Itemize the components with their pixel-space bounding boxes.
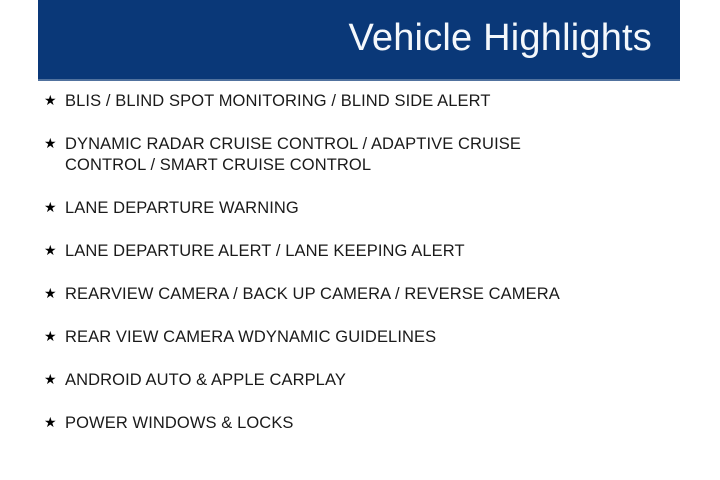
page-title: Vehicle Highlights — [348, 19, 680, 61]
highlight-label: REARVIEW CAMERA / BACK UP CAMERA / REVER… — [65, 284, 610, 305]
list-item: ★ REARVIEW CAMERA / BACK UP CAMERA / REV… — [44, 284, 684, 305]
star-icon: ★ — [44, 413, 65, 434]
star-icon: ★ — [44, 327, 65, 348]
header-underline-divider — [38, 79, 680, 81]
star-icon: ★ — [44, 198, 65, 219]
highlight-label: BLIS / BLIND SPOT MONITORING / BLIND SID… — [65, 91, 610, 112]
vehicle-highlights-slide: Vehicle Highlights ★ BLIS / BLIND SPOT M… — [0, 0, 720, 480]
vehicle-highlights-list: ★ BLIS / BLIND SPOT MONITORING / BLIND S… — [44, 91, 684, 434]
list-item: ★ BLIS / BLIND SPOT MONITORING / BLIND S… — [44, 91, 684, 112]
star-icon: ★ — [44, 134, 65, 155]
list-item: ★ DYNAMIC RADAR CRUISE CONTROL / ADAPTIV… — [44, 134, 684, 176]
highlight-label: DYNAMIC RADAR CRUISE CONTROL / ADAPTIVE … — [65, 134, 610, 176]
highlight-label: LANE DEPARTURE ALERT / LANE KEEPING ALER… — [65, 241, 610, 262]
star-icon: ★ — [44, 284, 65, 305]
star-icon: ★ — [44, 91, 65, 112]
highlight-label: POWER WINDOWS & LOCKS — [65, 413, 610, 434]
list-item: ★ ANDROID AUTO & APPLE CARPLAY — [44, 370, 684, 391]
header-banner: Vehicle Highlights — [38, 0, 680, 79]
list-item: ★ REAR VIEW CAMERA WDYNAMIC GUIDELINES — [44, 327, 684, 348]
highlight-label: REAR VIEW CAMERA WDYNAMIC GUIDELINES — [65, 327, 610, 348]
list-item: ★ LANE DEPARTURE WARNING — [44, 198, 684, 219]
list-item: ★ LANE DEPARTURE ALERT / LANE KEEPING AL… — [44, 241, 684, 262]
star-icon: ★ — [44, 370, 65, 391]
star-icon: ★ — [44, 241, 65, 262]
highlight-label: ANDROID AUTO & APPLE CARPLAY — [65, 370, 610, 391]
list-item: ★ POWER WINDOWS & LOCKS — [44, 413, 684, 434]
highlight-label: LANE DEPARTURE WARNING — [65, 198, 610, 219]
